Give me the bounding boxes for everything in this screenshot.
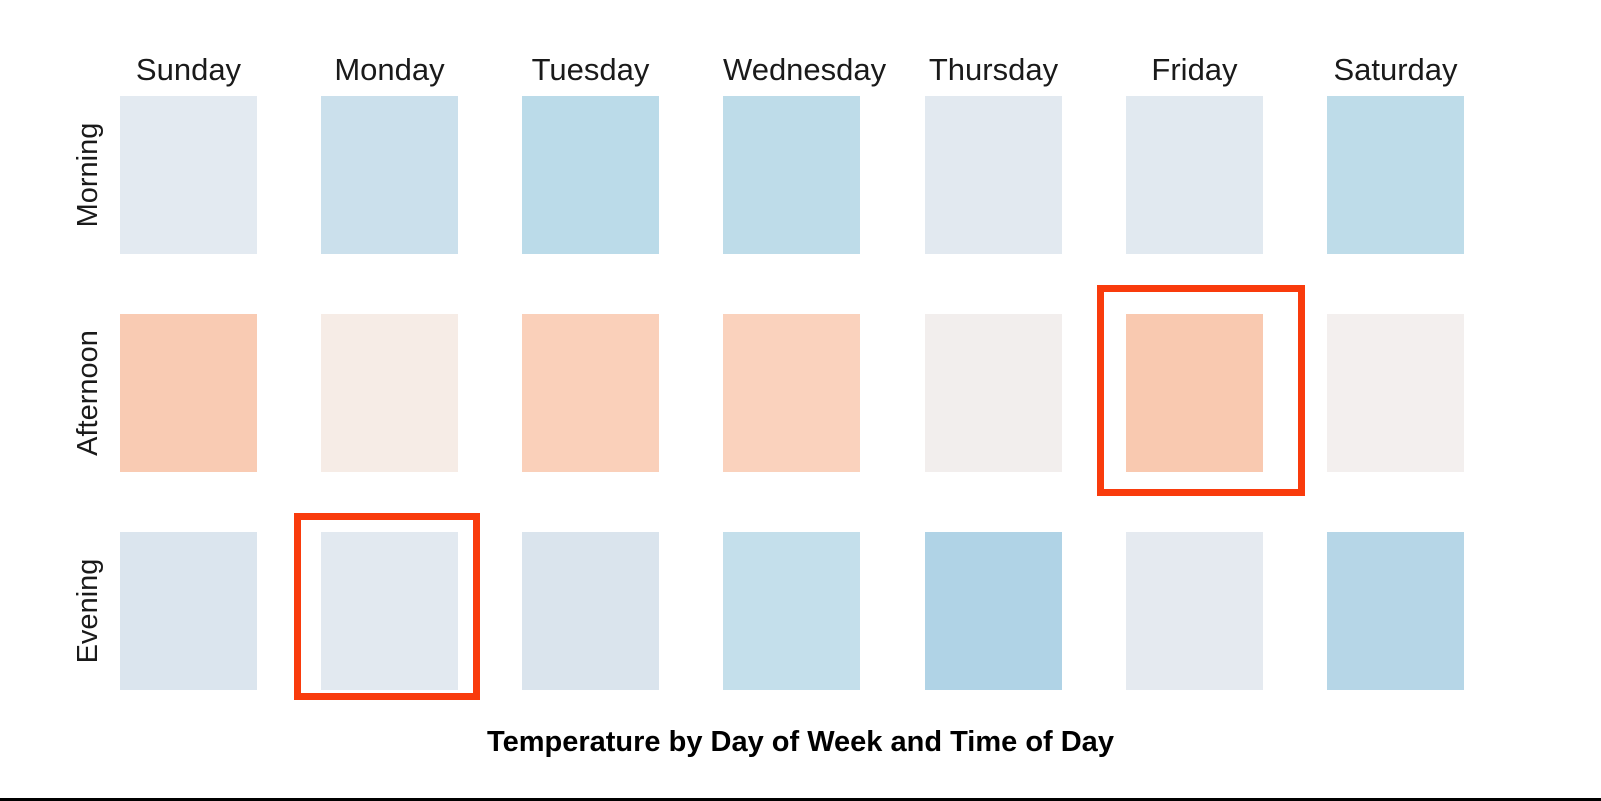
heatmap-cell-morning-friday[interactable] [1126, 96, 1263, 254]
heatmap-cell-afternoon-thursday[interactable] [925, 314, 1062, 472]
highlight-box-afternoon-friday[interactable] [1097, 285, 1305, 496]
heatmap-cell-afternoon-saturday[interactable] [1327, 314, 1464, 472]
heatmap-chart: Sunday Monday Tuesday Wednesday Thursday… [0, 0, 1601, 801]
heatmap-cell-afternoon-sunday[interactable] [120, 314, 257, 472]
heatmap-cell-morning-wednesday[interactable] [723, 96, 860, 254]
heatmap-cell-afternoon-wednesday[interactable] [723, 314, 860, 472]
heatmap-cell-evening-saturday[interactable] [1327, 532, 1464, 690]
heatmap-cell-afternoon-tuesday[interactable] [522, 314, 659, 472]
heatmap-cell-morning-thursday[interactable] [925, 96, 1062, 254]
heatmap-cell-evening-wednesday[interactable] [723, 532, 860, 690]
heatmap-cell-evening-thursday[interactable] [925, 532, 1062, 690]
heatmap-cell-evening-sunday[interactable] [120, 532, 257, 690]
heatmap-cell-afternoon-monday[interactable] [321, 314, 458, 472]
heatmap-cell-morning-saturday[interactable] [1327, 96, 1464, 254]
heatmap-cell-morning-sunday[interactable] [120, 96, 257, 254]
heatmap-cell-evening-friday[interactable] [1126, 532, 1263, 690]
heatmap-cell-morning-tuesday[interactable] [522, 96, 659, 254]
heatmap-cell-morning-monday[interactable] [321, 96, 458, 254]
chart-title: Temperature by Day of Week and Time of D… [0, 726, 1601, 759]
heatmap-cell-grid [0, 0, 1601, 801]
heatmap-cell-evening-tuesday[interactable] [522, 532, 659, 690]
highlight-box-evening-monday[interactable] [294, 513, 480, 700]
